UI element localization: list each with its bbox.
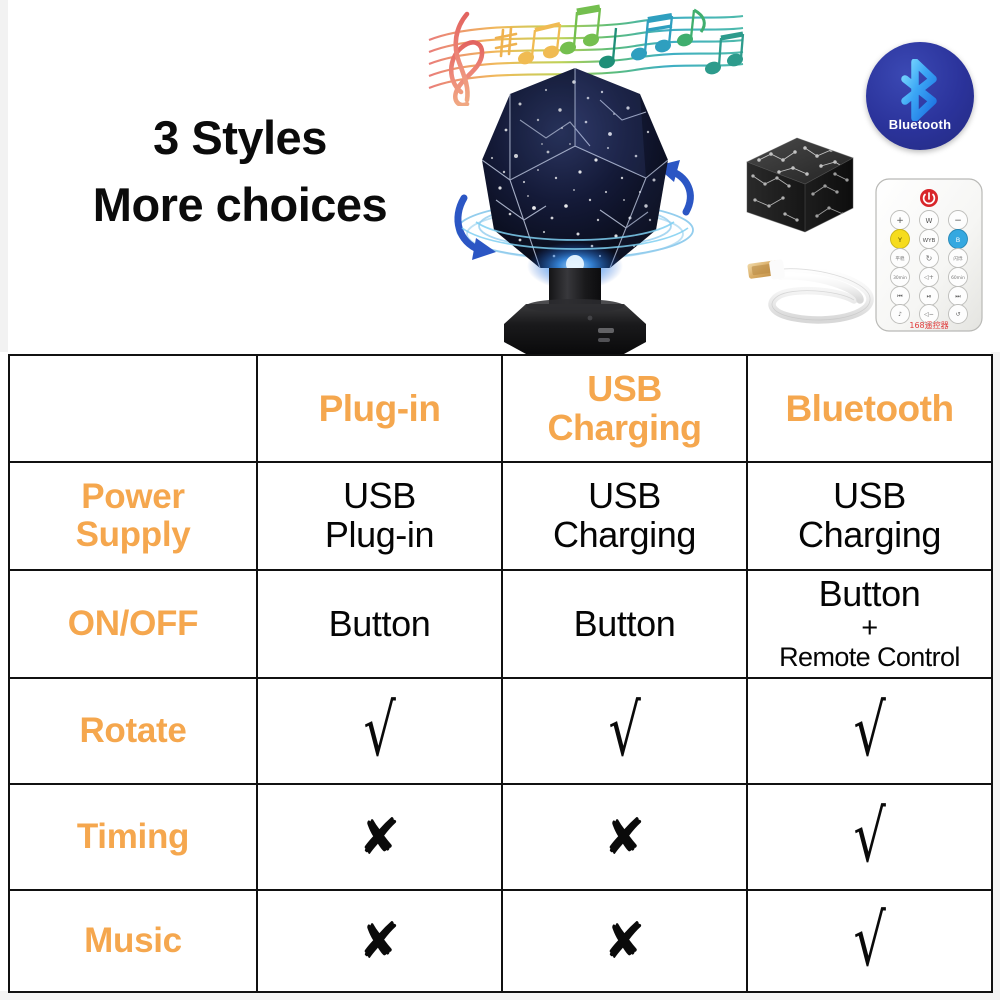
onoff-bt-plus: +	[752, 614, 987, 643]
on-off-label: ON/OFF	[14, 605, 252, 644]
cell-power-bluetooth: USB Charging	[747, 462, 992, 570]
power-plug-in-line-2: Plug-in	[262, 516, 497, 555]
svg-text:B: B	[956, 236, 960, 244]
svg-text:60min: 60min	[951, 275, 965, 281]
remote-control-image: + W − Y WYB B 平稳	[873, 176, 985, 334]
power-supply-label-line-2: Supply	[14, 516, 252, 555]
timing-plug-in-cross-icon: ✘	[359, 815, 401, 860]
svg-text:⏮: ⏮	[897, 293, 903, 300]
row-label-on-off: ON/OFF	[9, 570, 257, 678]
product-comparison-page: 3 Styles More choices	[0, 0, 1000, 1000]
onoff-bt-line-2: Remote Control	[752, 643, 987, 672]
power-usb-line-2: Charging	[507, 516, 742, 555]
music-bt-check-icon: √	[853, 909, 885, 973]
table-row-power-supply: Power Supply USB Plug-in USB Charging US…	[9, 462, 992, 570]
table-row-timing: Timing ✘ ✘ √	[9, 784, 992, 890]
row-label-music: Music	[9, 890, 257, 992]
rotate-plug-in-check-icon: √	[363, 699, 395, 763]
cell-onoff-usb: Button	[502, 570, 747, 678]
music-usb-cross-icon: ✘	[604, 919, 646, 964]
svg-text:◁+: ◁+	[924, 274, 934, 281]
onoff-bt-line-1: Button	[752, 575, 987, 614]
row-label-timing: Timing	[9, 784, 257, 890]
onoff-usb-value: Button	[507, 605, 742, 644]
header-cell-blank	[9, 355, 257, 462]
cell-timing-bluetooth: √	[747, 784, 992, 890]
rotate-label: Rotate	[14, 712, 252, 751]
cell-timing-usb: ✘	[502, 784, 747, 890]
svg-text:♪: ♪	[898, 311, 902, 318]
rotate-usb-check-icon: √	[608, 699, 640, 763]
timing-bt-check-icon: √	[853, 805, 885, 869]
power-bt-line-2: Charging	[752, 516, 987, 555]
svg-text:30min: 30min	[893, 275, 907, 281]
svg-text:⏭: ⏭	[955, 293, 961, 300]
hero-section: 3 Styles More choices	[0, 0, 1000, 355]
header-bluetooth-label: Bluetooth	[752, 389, 987, 428]
svg-text:WYB: WYB	[923, 238, 936, 244]
music-label: Music	[14, 922, 252, 961]
cell-timing-plug-in: ✘	[257, 784, 502, 890]
star-projector-lamp-image	[450, 60, 700, 355]
power-supply-label-line-1: Power	[14, 478, 252, 517]
svg-text:−: −	[954, 216, 962, 226]
cell-rotate-plug-in: √	[257, 678, 502, 784]
power-plug-in-line-1: USB	[262, 477, 497, 516]
cell-power-usb: USB Charging	[502, 462, 747, 570]
table-header-row: Plug-in USB Charging Bluetooth	[9, 355, 992, 462]
row-label-power-supply: Power Supply	[9, 462, 257, 570]
remote-model-label: 168遥控器	[909, 320, 948, 330]
header-cell-plug-in: Plug-in	[257, 355, 502, 462]
cell-rotate-bluetooth: √	[747, 678, 992, 784]
headline-line-1: 3 Styles	[40, 105, 440, 172]
svg-text:闪烁: 闪烁	[953, 255, 963, 262]
header-plug-in-label: Plug-in	[262, 389, 497, 428]
table-row-music: Music ✘ ✘ √	[9, 890, 992, 992]
bluetooth-icon	[891, 59, 949, 121]
page-title: 3 Styles More choices	[40, 105, 440, 238]
rotate-bt-check-icon: √	[853, 699, 885, 763]
cell-music-usb: ✘	[502, 890, 747, 992]
constellation-gift-box-image	[739, 128, 861, 240]
header-cell-usb-charging: USB Charging	[502, 355, 747, 462]
svg-text:+: +	[896, 216, 904, 226]
usb-connector	[747, 259, 785, 280]
table-row-rotate: Rotate √ √ √	[9, 678, 992, 784]
svg-text:Y: Y	[897, 236, 902, 244]
svg-text:平稳: 平稳	[895, 255, 905, 262]
svg-text:⏯: ⏯	[927, 293, 932, 300]
header-usb-line-1: USB	[507, 370, 742, 408]
cell-rotate-usb: √	[502, 678, 747, 784]
cell-power-plug-in: USB Plug-in	[257, 462, 502, 570]
cell-onoff-bluetooth: Button + Remote Control	[747, 570, 992, 678]
power-bt-line-1: USB	[752, 477, 987, 516]
headline-line-2: More choices	[40, 172, 440, 239]
table-row-on-off: ON/OFF Button Button Button + Remote Con…	[9, 570, 992, 678]
bluetooth-badge-label: Bluetooth	[866, 117, 974, 132]
svg-text:◁−: ◁−	[924, 311, 934, 318]
usb-cable-image	[742, 246, 882, 336]
timing-usb-cross-icon: ✘	[604, 815, 646, 860]
music-plug-in-cross-icon: ✘	[359, 919, 401, 964]
row-label-rotate: Rotate	[9, 678, 257, 784]
svg-text:↺: ↺	[955, 311, 960, 318]
onoff-plug-in-value: Button	[262, 605, 497, 644]
cell-onoff-plug-in: Button	[257, 570, 502, 678]
svg-text:↻: ↻	[926, 254, 933, 263]
header-usb-line-2: Charging	[507, 409, 742, 447]
bluetooth-badge: Bluetooth	[866, 42, 974, 150]
cell-music-bluetooth: √	[747, 890, 992, 992]
header-cell-bluetooth: Bluetooth	[747, 355, 992, 462]
power-usb-line-1: USB	[507, 477, 742, 516]
comparison-table: Plug-in USB Charging Bluetooth Power Sup…	[8, 354, 993, 993]
timing-label: Timing	[14, 818, 252, 857]
svg-text:W: W	[926, 217, 933, 225]
cell-music-plug-in: ✘	[257, 890, 502, 992]
